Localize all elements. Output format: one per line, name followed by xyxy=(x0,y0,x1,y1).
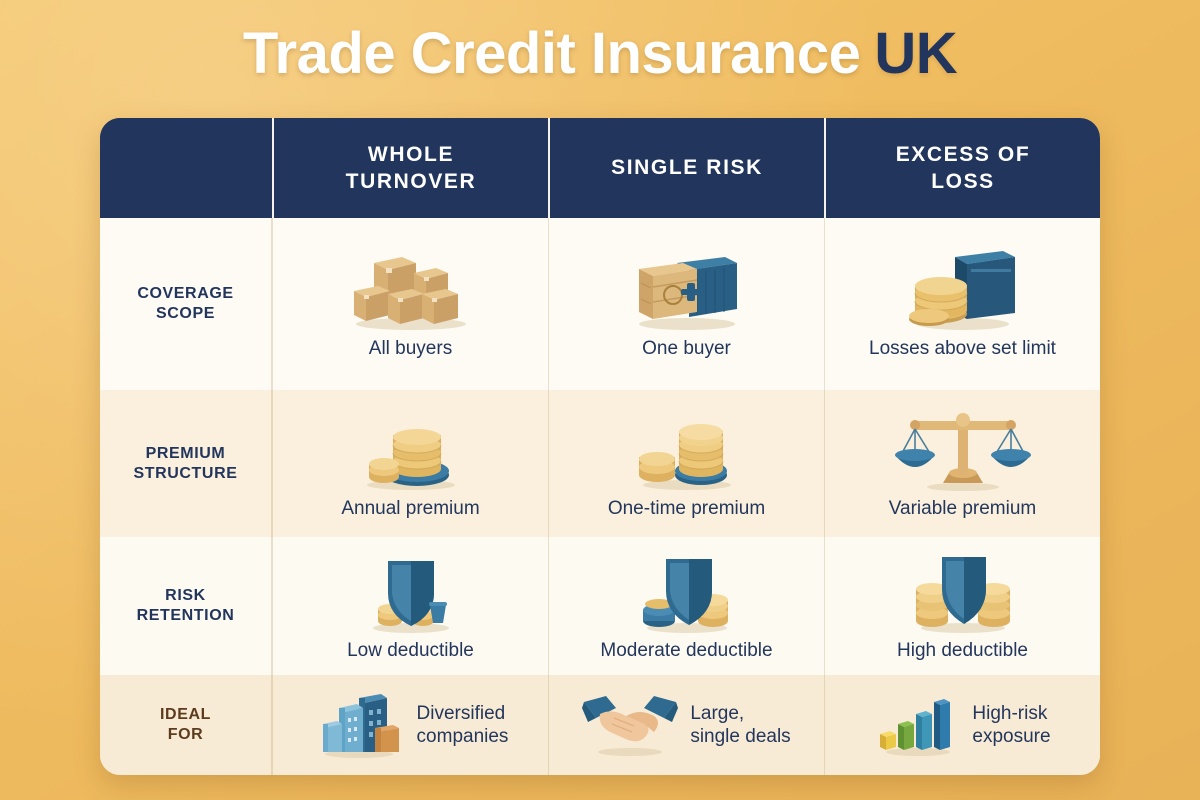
cell-caption: Variable premium xyxy=(889,497,1036,521)
row-label-ideal-for: IDEAL FOR xyxy=(100,675,272,775)
shield-coins-medium-icon xyxy=(622,549,752,633)
table-row: IDEAL FOR xyxy=(100,675,1100,775)
comparison-table-card: WHOLE TURNOVER SINGLE RISK EXCESS OF LOS… xyxy=(100,118,1100,775)
cell-premium-excess-of-loss: Variable premium xyxy=(824,390,1100,537)
cell-caption: Large, single deals xyxy=(690,702,790,748)
column-header-excess-of-loss: EXCESS OF LOSS xyxy=(824,118,1100,218)
row-label-line2: FOR xyxy=(160,725,211,745)
cell-caption: One-time premium xyxy=(608,497,765,521)
cell-caption-line1: Diversified xyxy=(417,702,509,725)
coins-ledger-icon xyxy=(893,247,1033,331)
cell-caption: High-risk exposure xyxy=(972,702,1050,748)
office-buildings-icon xyxy=(313,692,405,758)
cell-caption-line2: exposure xyxy=(972,725,1050,748)
bar-chart-icon xyxy=(874,692,960,758)
balance-scales-icon xyxy=(893,407,1033,491)
row-label-coverage-scope: COVERAGE SCOPE xyxy=(100,218,272,390)
cell-coverage-whole-turnover: All buyers xyxy=(272,218,548,390)
title-accent-text: UK xyxy=(874,21,957,86)
cell-caption-line1: High-risk xyxy=(972,702,1050,725)
row-label-line2: SCOPE xyxy=(137,304,233,324)
cell-risk-excess-of-loss: High deductible xyxy=(824,537,1100,675)
cardboard-boxes-icon xyxy=(336,247,486,331)
page-title: Trade Credit InsuranceUK xyxy=(0,20,1200,87)
cell-caption: One buyer xyxy=(642,337,731,361)
shield-coins-small-icon xyxy=(346,549,476,633)
cell-caption: Losses above set limit xyxy=(869,337,1056,361)
title-main-text: Trade Credit Insurance xyxy=(243,21,861,86)
cell-caption: Low deductible xyxy=(347,639,474,663)
cell-ideal-excess-of-loss: High-risk exposure xyxy=(824,675,1100,775)
header-corner-spacer xyxy=(100,118,272,218)
cell-coverage-single-risk: One buyer xyxy=(548,218,824,390)
cell-caption-line2: single deals xyxy=(690,725,790,748)
row-label-line2: STRUCTURE xyxy=(133,464,237,484)
row-label-line1: IDEAL xyxy=(160,705,211,725)
crate-container-icon xyxy=(617,247,757,331)
cell-premium-whole-turnover: Annual premium xyxy=(272,390,548,537)
cell-risk-whole-turnover: Low deductible xyxy=(272,537,548,675)
cell-caption: High deductible xyxy=(897,639,1028,663)
column-header-whole-turnover: WHOLE TURNOVER xyxy=(272,118,548,218)
cell-caption: All buyers xyxy=(369,337,452,361)
table-header-row: WHOLE TURNOVER SINGLE RISK EXCESS OF LOS… xyxy=(100,118,1100,218)
column-header-line1: WHOLE xyxy=(346,141,477,168)
column-header-line1: EXCESS OF xyxy=(896,141,1031,168)
row-label-premium-structure: PREMIUM STRUCTURE xyxy=(100,390,272,537)
cell-risk-single-risk: Moderate deductible xyxy=(548,537,824,675)
infographic-poster: Trade Credit InsuranceUK WHOLE TURNOVER … xyxy=(0,0,1200,800)
cell-ideal-single-risk: Large, single deals xyxy=(548,675,824,775)
column-header-line1: SINGLE RISK xyxy=(611,154,763,181)
table-body: COVERAGE SCOPE xyxy=(100,218,1100,775)
cell-premium-single-risk: One-time premium xyxy=(548,390,824,537)
row-label-line1: COVERAGE xyxy=(137,284,233,304)
row-label-line1: PREMIUM xyxy=(133,444,237,464)
table-row: COVERAGE SCOPE xyxy=(100,218,1100,390)
row-label-risk-retention: RISK RETENTION xyxy=(100,537,272,675)
cell-coverage-excess-of-loss: Losses above set limit xyxy=(824,218,1100,390)
handshake-icon xyxy=(582,692,678,758)
cell-caption: Diversified companies xyxy=(417,702,509,748)
table-row: RISK RETENTION xyxy=(100,537,1100,675)
coin-pile-icon xyxy=(617,407,757,491)
shield-coins-large-icon xyxy=(898,549,1028,633)
column-header-line2: LOSS xyxy=(896,168,1031,195)
cell-caption-line1: Large, xyxy=(690,702,790,725)
cell-caption-line2: companies xyxy=(417,725,509,748)
cell-caption: Annual premium xyxy=(341,497,479,521)
coin-stack-icon xyxy=(341,407,481,491)
column-header-line2: TURNOVER xyxy=(346,168,477,195)
column-header-single-risk: SINGLE RISK xyxy=(548,118,824,218)
row-label-line1: RISK xyxy=(137,586,235,606)
cell-caption: Moderate deductible xyxy=(600,639,772,663)
row-label-line2: RETENTION xyxy=(137,606,235,626)
cell-ideal-whole-turnover: Diversified companies xyxy=(272,675,548,775)
table-row: PREMIUM STRUCTURE xyxy=(100,390,1100,537)
